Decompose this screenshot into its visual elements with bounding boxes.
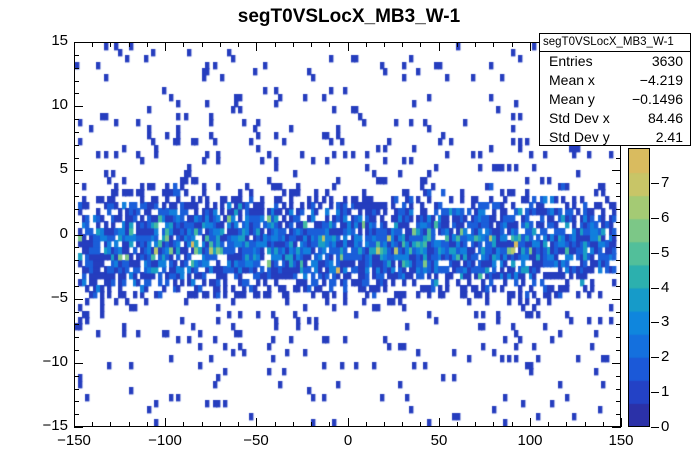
axis-tick — [366, 422, 367, 427]
axis-tick — [165, 42, 166, 51]
axis-tick — [612, 427, 621, 428]
axis-tick — [566, 422, 567, 427]
axis-tick — [74, 158, 79, 159]
stats-row: Mean x−4.219 — [540, 71, 690, 90]
axis-tick — [402, 422, 403, 427]
axis-tick — [74, 389, 79, 390]
axis-tick — [74, 132, 79, 133]
axis-tick — [74, 222, 79, 223]
axis-tick — [603, 422, 604, 427]
stats-row: Entries3630 — [540, 52, 690, 71]
axis-tick — [329, 422, 330, 427]
stats-row-value: 84.46 — [648, 109, 683, 128]
axis-tick-label: −15 — [24, 417, 68, 434]
color-scale-tick-label: 2 — [661, 348, 669, 365]
axis-tick — [384, 422, 385, 427]
axis-tick — [616, 222, 621, 223]
axis-tick — [616, 401, 621, 402]
axis-tick — [275, 422, 276, 427]
axis-tick — [616, 376, 621, 377]
axis-tick — [457, 42, 458, 47]
axis-tick — [74, 418, 75, 427]
color-scale-tick — [651, 288, 659, 289]
plot-canvas: segT0VSLocX_MB3_W-1 −150−100−50050100150… — [0, 0, 698, 476]
axis-tick — [74, 42, 83, 43]
axis-tick — [74, 401, 79, 402]
axis-tick — [616, 158, 621, 159]
axis-tick — [616, 414, 621, 415]
axis-tick-label: 100 — [512, 432, 548, 449]
axis-tick — [74, 337, 79, 338]
axis-tick — [293, 42, 294, 47]
color-scale-tick — [651, 357, 659, 358]
axis-tick — [74, 260, 79, 261]
axis-tick — [74, 376, 79, 377]
axis-tick — [74, 235, 83, 236]
axis-tick — [612, 363, 621, 364]
axis-tick — [220, 422, 221, 427]
color-scale-gradient — [629, 149, 649, 426]
color-scale-tick-label: 4 — [661, 279, 669, 296]
axis-tick — [202, 42, 203, 47]
axis-tick — [74, 247, 79, 248]
axis-tick — [220, 42, 221, 47]
color-scale-tick — [651, 392, 659, 393]
axis-tick — [420, 42, 421, 47]
axis-tick — [238, 422, 239, 427]
axis-tick — [475, 422, 476, 427]
axis-tick — [612, 235, 621, 236]
stats-row-key: Mean x — [549, 71, 595, 90]
axis-tick — [74, 312, 79, 313]
axis-tick — [616, 209, 621, 210]
axis-tick-label: −10 — [24, 353, 68, 370]
axis-tick — [348, 42, 349, 51]
axis-tick — [616, 324, 621, 325]
axis-tick — [616, 312, 621, 313]
axis-tick — [92, 42, 93, 47]
axis-tick — [74, 93, 79, 94]
stats-row: Std Dev x84.46 — [540, 109, 690, 128]
stats-row-key: Mean y — [549, 90, 595, 109]
axis-tick — [493, 42, 494, 47]
axis-tick-label: 50 — [421, 432, 457, 449]
color-scale-tick — [651, 183, 659, 184]
axis-tick — [621, 418, 622, 427]
axis-tick — [493, 422, 494, 427]
axis-tick — [110, 422, 111, 427]
axis-tick — [74, 119, 79, 120]
axis-tick — [74, 350, 79, 351]
color-scale-tick-label: 6 — [661, 209, 669, 226]
axis-tick — [548, 422, 549, 427]
axis-tick — [439, 418, 440, 427]
axis-tick-label: 0 — [330, 432, 366, 449]
color-scale-tick — [651, 218, 659, 219]
axis-tick — [616, 247, 621, 248]
axis-tick-label: 0 — [24, 225, 68, 242]
axis-tick — [311, 422, 312, 427]
color-scale-tick — [651, 427, 659, 428]
axis-tick — [74, 42, 75, 51]
axis-tick-label: 150 — [603, 432, 639, 449]
axis-tick — [256, 42, 257, 51]
axis-tick — [74, 286, 79, 287]
stats-row-key: Std Dev y — [549, 128, 610, 147]
color-scale-tick-label: 0 — [661, 418, 669, 435]
axis-tick — [74, 427, 83, 428]
axis-tick — [616, 196, 621, 197]
axis-tick-label: −100 — [147, 432, 183, 449]
color-scale-tick-label: 7 — [661, 174, 669, 191]
axis-tick — [74, 183, 79, 184]
color-scale-tick — [651, 322, 659, 323]
axis-tick — [74, 299, 83, 300]
axis-tick — [74, 273, 79, 274]
axis-tick — [530, 418, 531, 427]
stats-row-key: Entries — [549, 52, 593, 71]
axis-tick — [74, 324, 79, 325]
stats-rows: Entries3630Mean x−4.219Mean y−0.1496Std … — [540, 52, 690, 147]
axis-tick — [457, 422, 458, 427]
axis-tick-label: 10 — [24, 96, 68, 113]
axis-tick — [110, 42, 111, 47]
axis-tick — [439, 42, 440, 51]
color-scale-tick-label: 5 — [661, 244, 669, 261]
stats-row-value: −4.219 — [640, 71, 683, 90]
axis-tick — [74, 414, 79, 415]
color-scale-tick-label: 3 — [661, 313, 669, 330]
stats-row: Std Dev y2.41 — [540, 128, 690, 147]
axis-tick-label: 5 — [24, 160, 68, 177]
axis-tick — [348, 418, 349, 427]
axis-tick — [74, 170, 83, 171]
axis-tick — [74, 196, 79, 197]
stats-row: Mean y−0.1496 — [540, 90, 690, 109]
axis-tick — [616, 260, 621, 261]
axis-tick — [238, 42, 239, 47]
axis-tick — [202, 422, 203, 427]
color-scale-bar — [628, 148, 650, 427]
axis-tick — [293, 422, 294, 427]
axis-tick — [616, 389, 621, 390]
axis-tick — [612, 170, 621, 171]
axis-tick — [74, 81, 79, 82]
axis-tick — [74, 363, 83, 364]
axis-tick-label: −150 — [56, 432, 92, 449]
axis-tick — [420, 422, 421, 427]
axis-tick — [74, 55, 79, 56]
axis-tick — [147, 42, 148, 47]
axis-tick — [616, 337, 621, 338]
stats-box-title: segT0VSLocX_MB3_W-1 — [540, 34, 690, 52]
axis-tick — [129, 42, 130, 47]
stats-box: segT0VSLocX_MB3_W-1 Entries3630Mean x−4.… — [539, 33, 691, 146]
axis-tick — [512, 42, 513, 47]
axis-tick — [183, 422, 184, 427]
stats-row-value: 3630 — [652, 52, 683, 71]
page-title: segT0VSLocX_MB3_W-1 — [0, 6, 698, 28]
axis-tick — [74, 68, 79, 69]
axis-tick — [275, 42, 276, 47]
axis-tick — [311, 42, 312, 47]
axis-tick — [74, 106, 83, 107]
axis-tick — [530, 42, 531, 51]
axis-tick — [366, 42, 367, 47]
axis-tick — [616, 273, 621, 274]
stats-row-value: −0.1496 — [632, 90, 683, 109]
axis-tick — [616, 350, 621, 351]
axis-tick — [402, 42, 403, 47]
axis-tick — [329, 42, 330, 47]
axis-tick — [616, 286, 621, 287]
axis-tick — [384, 42, 385, 47]
axis-tick-label: −5 — [24, 289, 68, 306]
axis-tick-label: 15 — [24, 32, 68, 49]
axis-tick — [129, 422, 130, 427]
color-scale-tick — [651, 253, 659, 254]
axis-tick-label: −50 — [238, 432, 274, 449]
axis-tick — [585, 422, 586, 427]
axis-tick — [92, 422, 93, 427]
axis-tick — [475, 42, 476, 47]
axis-tick — [74, 145, 79, 146]
stats-row-key: Std Dev x — [549, 109, 610, 128]
axis-tick — [616, 183, 621, 184]
color-scale-tick-label: 1 — [661, 383, 669, 400]
axis-tick — [512, 422, 513, 427]
axis-tick — [74, 209, 79, 210]
stats-row-value: 2.41 — [656, 128, 683, 147]
axis-tick — [165, 418, 166, 427]
axis-tick — [612, 299, 621, 300]
axis-tick — [256, 418, 257, 427]
axis-tick — [147, 422, 148, 427]
axis-tick — [183, 42, 184, 47]
